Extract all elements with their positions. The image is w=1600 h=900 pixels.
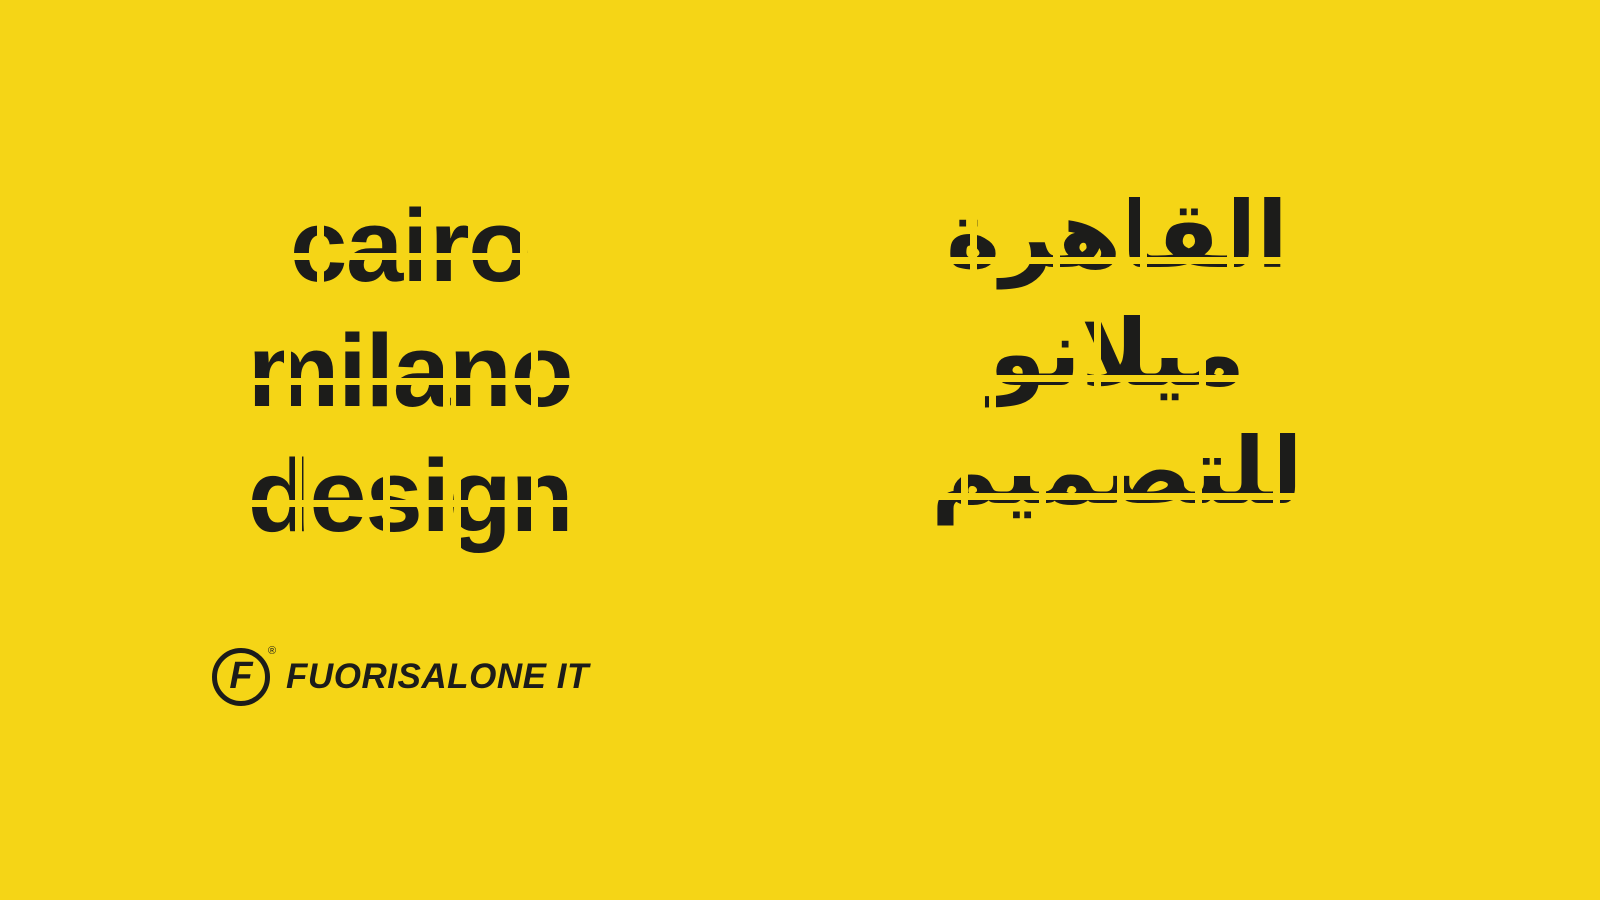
logo-f-letter: F [212,648,270,706]
circled-f-icon: F ® [212,648,270,706]
arabic-line-design: للتصميم [902,426,1332,518]
arabic-title-block: القاهرة ميلانو للتصميم [902,190,1332,518]
stencil-cut-vertical [218,186,225,315]
registered-trademark-icon: ® [268,646,276,657]
arabic-line-cairo: القاهرة [902,190,1332,282]
latin-line-cairo-text: cairo [290,188,530,303]
stencil-cut-vertical [607,186,614,315]
arabic-line-design-text: للتصميم [931,418,1303,525]
latin-line-milano-text: milano [248,313,573,428]
latin-line-design-text: design [248,438,573,553]
stencil-cut-vertical [202,311,209,440]
arabic-line-milano: ميلانو [902,308,1332,400]
arabic-line-milano-text: ميلانو [989,300,1246,407]
poster-canvas: cairo milano design [0,0,1600,900]
latin-line-design: design [150,446,670,547]
stencil-cut-vertical [618,311,625,440]
arabic-line-cairo-text: القاهرة [946,182,1288,289]
fuorisalone-logo[interactable]: F ® FUORISALONE IT [212,648,589,706]
stencil-cut-vertical [207,436,214,565]
latin-line-milano: milano [150,321,670,422]
stencil-cut-vertical [618,436,625,565]
latin-title-block: cairo milano design [150,196,670,547]
latin-line-cairo: cairo [150,196,670,297]
logo-wordmark: FUORISALONE IT [286,659,589,696]
